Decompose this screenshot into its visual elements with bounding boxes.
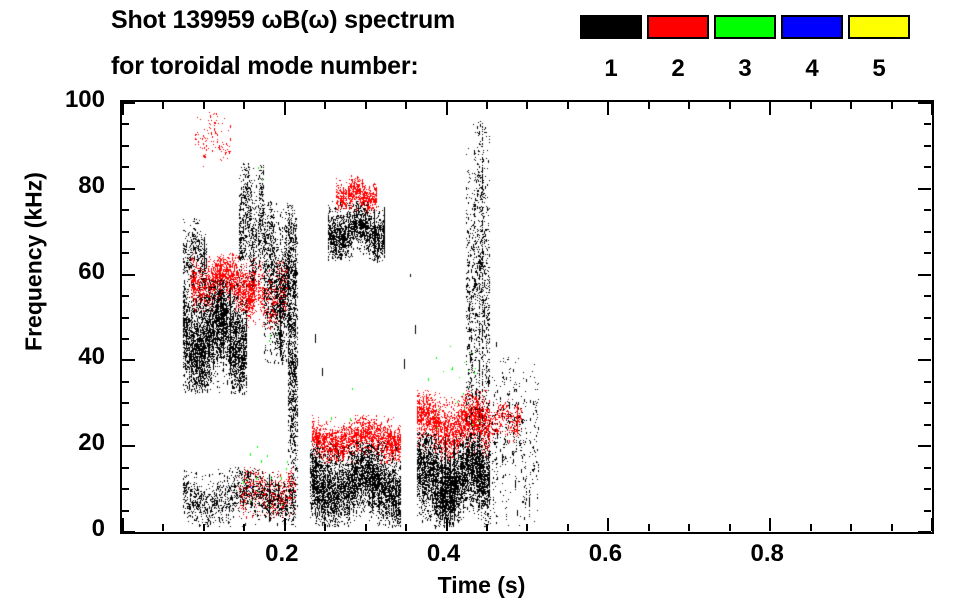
y-tick: [924, 295, 931, 297]
y-tick: [924, 252, 931, 254]
plot-frame: [120, 100, 934, 534]
x-tick: [486, 524, 488, 531]
x-tick: [891, 102, 893, 109]
y-tick: [924, 510, 931, 512]
y-tick-label: 40: [45, 343, 105, 371]
y-tick: [122, 252, 129, 254]
x-tick: [324, 524, 326, 531]
y-tick-label: 80: [45, 172, 105, 200]
legend-swatch-n3: [714, 15, 776, 39]
legend-swatch-n1: [580, 15, 642, 39]
y-tick: [924, 317, 931, 319]
x-tick: [122, 518, 124, 531]
x-tick: [810, 102, 812, 109]
x-tick: [729, 102, 731, 109]
x-tick-label: 0.6: [560, 540, 650, 568]
y-tick: [122, 510, 129, 512]
figure-title-line2: for toroidal mode number:: [111, 52, 419, 81]
x-axis-label: Time (s): [0, 572, 963, 599]
figure-title-line1: Shot 139959 ωB(ω) spectrum: [111, 6, 455, 35]
x-tick: [284, 102, 286, 115]
spectrogram-figure: Shot 139959 ωB(ω) spectrum for toroidal …: [0, 0, 963, 615]
x-tick: [365, 102, 367, 109]
legend-swatch-n5: [848, 15, 910, 39]
y-tick: [924, 402, 931, 404]
x-tick: [729, 524, 731, 531]
y-tick: [924, 467, 931, 469]
y-tick: [924, 209, 931, 211]
x-tick-label: 0.4: [399, 540, 489, 568]
x-tick: [567, 524, 569, 531]
x-tick: [284, 518, 286, 531]
y-tick: [122, 531, 135, 533]
x-tick: [486, 102, 488, 109]
y-tick: [918, 445, 931, 447]
y-tick: [924, 145, 931, 147]
y-tick: [122, 359, 135, 361]
x-tick: [243, 102, 245, 109]
x-tick: [648, 524, 650, 531]
y-tick: [122, 317, 129, 319]
y-axis-label: Frequency (kHz): [21, 162, 48, 362]
y-tick: [122, 188, 135, 190]
y-tick: [122, 102, 135, 104]
x-tick: [526, 102, 528, 109]
y-tick: [918, 274, 931, 276]
y-tick: [924, 338, 931, 340]
x-tick: [162, 102, 164, 109]
x-tick: [446, 102, 448, 115]
x-tick: [243, 524, 245, 531]
y-tick: [122, 166, 129, 168]
x-tick: [769, 102, 771, 115]
legend-label-n5: 5: [848, 55, 910, 83]
y-tick-label: 20: [45, 429, 105, 457]
x-tick: [446, 518, 448, 531]
y-tick: [122, 295, 129, 297]
y-tick: [924, 488, 931, 490]
spectrogram-canvas: [122, 102, 931, 531]
x-tick: [324, 102, 326, 109]
x-tick: [526, 524, 528, 531]
x-tick: [405, 524, 407, 531]
x-tick: [122, 102, 124, 115]
y-tick: [122, 445, 135, 447]
x-tick: [162, 524, 164, 531]
y-tick: [918, 102, 931, 104]
x-tick: [607, 518, 609, 531]
y-tick: [924, 424, 931, 426]
y-tick: [122, 274, 135, 276]
y-tick: [122, 338, 129, 340]
y-tick: [122, 488, 129, 490]
legend-label-n2: 2: [647, 55, 709, 83]
y-tick: [918, 531, 931, 533]
x-tick: [891, 524, 893, 531]
x-tick: [607, 102, 609, 115]
y-tick: [122, 467, 129, 469]
x-tick: [850, 524, 852, 531]
y-tick: [924, 123, 931, 125]
y-tick: [122, 209, 129, 211]
x-tick: [931, 518, 933, 531]
y-tick: [122, 145, 129, 147]
x-tick: [203, 102, 205, 109]
y-tick: [918, 359, 931, 361]
y-tick: [122, 123, 129, 125]
legend-swatch-n4: [781, 15, 843, 39]
x-tick: [567, 102, 569, 109]
y-tick: [122, 424, 129, 426]
y-tick: [918, 188, 931, 190]
y-tick: [924, 231, 931, 233]
legend-label-n3: 3: [714, 55, 776, 83]
y-tick: [122, 402, 129, 404]
y-tick: [924, 166, 931, 168]
x-tick: [203, 524, 205, 531]
x-tick: [688, 102, 690, 109]
legend-label-n1: 1: [580, 55, 642, 83]
y-tick: [122, 381, 129, 383]
x-tick: [850, 102, 852, 109]
y-tick: [924, 381, 931, 383]
x-tick: [769, 518, 771, 531]
y-tick-label: 100: [45, 86, 105, 114]
x-tick: [931, 102, 933, 115]
y-tick-label: 60: [45, 258, 105, 286]
x-tick-label: 0.2: [237, 540, 327, 568]
y-tick-label: 0: [45, 515, 105, 543]
x-tick: [688, 524, 690, 531]
x-tick: [365, 524, 367, 531]
legend-label-n4: 4: [781, 55, 843, 83]
x-tick-label: 0.8: [722, 540, 812, 568]
legend-swatch-n2: [647, 15, 709, 39]
x-tick: [405, 102, 407, 109]
x-tick: [810, 524, 812, 531]
y-tick: [122, 231, 129, 233]
x-tick: [648, 102, 650, 109]
